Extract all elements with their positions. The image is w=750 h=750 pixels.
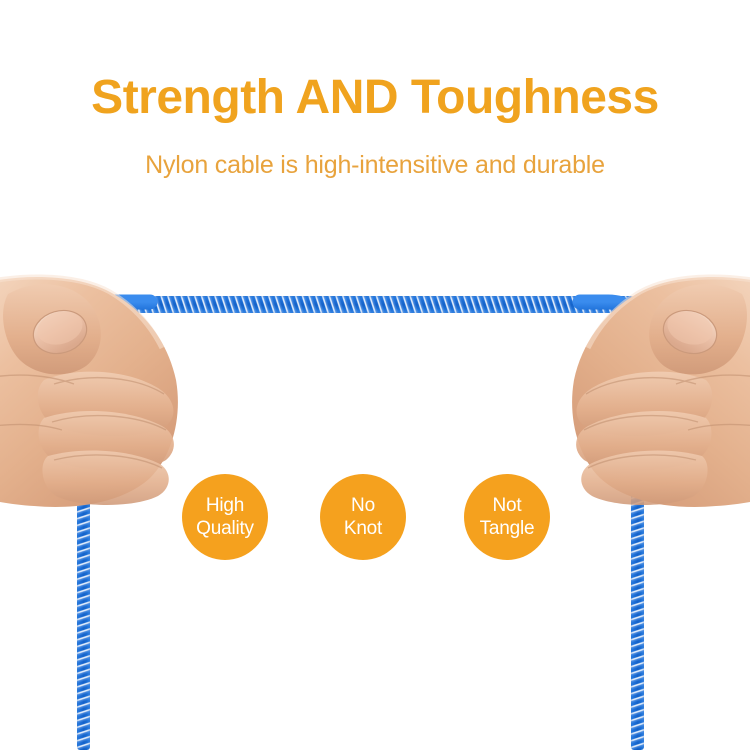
- feature-badge-high-quality[interactable]: High Quality: [182, 474, 268, 560]
- right-hand-fist: [528, 268, 750, 513]
- feature-badge-line1: No: [351, 494, 375, 517]
- feature-badge-line2: Knot: [344, 517, 382, 540]
- feature-badge-line2: Quality: [196, 517, 254, 540]
- feature-badge-line2: Tangle: [480, 517, 535, 540]
- feature-badge-not-tangle[interactable]: Not Tangle: [464, 474, 550, 560]
- product-feature-poster: Strength AND Toughness Nylon cable is hi…: [0, 0, 750, 750]
- feature-badge-no-knot[interactable]: No Knot: [320, 474, 406, 560]
- left-hand-fist: [0, 268, 222, 513]
- feature-badge-line1: Not: [493, 494, 522, 517]
- feature-badge-line1: High: [206, 494, 244, 517]
